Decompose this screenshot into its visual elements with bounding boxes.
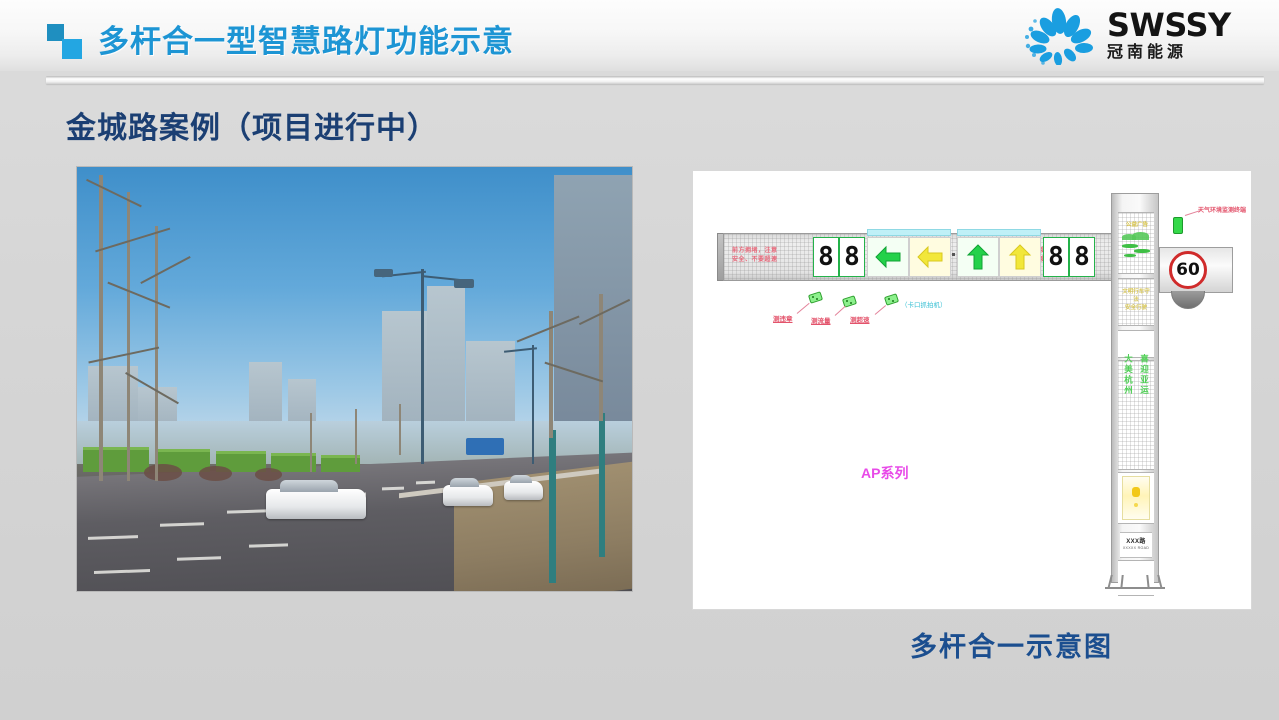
- photo-sapling: [310, 413, 312, 472]
- gantry-arrow-up-green: [957, 237, 999, 277]
- jincheng-road-street-photo: [76, 166, 633, 592]
- digit-value: 8: [1074, 244, 1090, 270]
- photo-tree-trunk: [127, 192, 130, 480]
- logo-subtitle: 冠南能源: [1107, 43, 1265, 63]
- annotation-label-3: 测超速: [850, 314, 870, 324]
- photo-building: [554, 175, 632, 438]
- two-squares-icon: [47, 24, 89, 60]
- photo-lamp-head: [374, 269, 393, 277]
- photo-lamp-head: [454, 279, 473, 287]
- photo-lane-dash: [416, 480, 435, 484]
- diagram-caption: 多杆合一示意图: [910, 625, 1113, 664]
- header-divider: [46, 76, 1264, 84]
- pole-ad-label: 公益广告: [1122, 220, 1152, 228]
- photo-tree-trunk: [155, 226, 158, 480]
- logo-text-block: SWSSY 冠南能源: [1107, 8, 1265, 63]
- gantry-digit-right-2: 8: [1069, 237, 1095, 277]
- lane-info-strip-left: [867, 229, 951, 236]
- multi-pole-schematic-diagram: 前方拥堵，注意 安全、不要超速 温度：25℃ PM2.5 湿度：60% P10 …: [692, 170, 1252, 610]
- annotation-label-2: 测流量: [811, 315, 831, 325]
- arrow-left-icon: [873, 243, 903, 271]
- digit-value: 8: [844, 244, 860, 270]
- photo-tree-trunk-painted: [549, 430, 556, 583]
- pole-slogan-right: 喜迎亚运: [1139, 354, 1150, 464]
- swssy-droplet-flower-logo-icon: [1015, 7, 1103, 65]
- logo-name: SWSSY: [1107, 8, 1265, 42]
- smart-pole: 公益广告 文明行车守法 安全行驶 大美杭州 喜迎亚运 XXX路 XXXXX RO…: [1111, 193, 1159, 583]
- gantry-arrow-left-yellow: [909, 237, 951, 277]
- photo-sapling: [399, 404, 401, 455]
- pole-base: [1105, 575, 1165, 589]
- page-title: 多杆合一型智慧路灯功能示意: [98, 16, 514, 61]
- weather-terminal-label: 天气环境监测终端: [1198, 205, 1246, 214]
- lane-info-strip-right: [957, 229, 1041, 236]
- arrow-up-icon: [1006, 242, 1034, 272]
- camera-icon: [809, 293, 822, 302]
- photo-shrub: [199, 466, 232, 481]
- speed-limit-sign: 60: [1169, 251, 1207, 289]
- weather-sensor-icon: [1173, 217, 1183, 234]
- gantry-center-tick: [952, 253, 955, 256]
- gantry-digit-right-1: 8: [1043, 237, 1069, 277]
- photo-shrub: [255, 468, 283, 481]
- annotation-leader-line: [875, 305, 886, 315]
- road-name-cn: XXX路: [1120, 536, 1152, 545]
- photo-sapling: [355, 409, 357, 464]
- gantry-arrow-left-green: [867, 237, 909, 277]
- photo-tree-trunk-painted: [599, 413, 605, 557]
- digit-value: 8: [818, 244, 834, 270]
- photo-truck: [83, 447, 150, 472]
- pole-road-name-plate: XXX路 XXXXX ROAD: [1120, 532, 1152, 558]
- pole-safety-text: 文明行车守法 安全行驶: [1120, 288, 1152, 312]
- annotation-leader-line: [835, 306, 846, 316]
- photo-building: [427, 286, 466, 439]
- gantry-digit-left-2: 8: [839, 237, 865, 277]
- road-name-en: XXXXX ROAD: [1120, 546, 1152, 550]
- green-hills-water-icon: [1120, 230, 1152, 264]
- photo-street-lamp-pole: [532, 345, 534, 464]
- photo-tree-trunk: [99, 175, 103, 480]
- photo-road-sign: [466, 438, 505, 455]
- digit-value: 8: [1048, 244, 1064, 270]
- arrow-left-icon: [915, 243, 945, 271]
- gantry-digit-left-1: 8: [813, 237, 839, 277]
- photo-tree-trunk: [549, 311, 553, 438]
- photo-shrub: [144, 464, 183, 481]
- arrow-up-icon: [964, 242, 992, 272]
- square-light-icon: [62, 39, 82, 59]
- annotation-leader-line: [797, 303, 810, 314]
- gantry-message-text: 前方拥堵，注意 安全、不要超速: [729, 243, 805, 271]
- gantry-arrow-up-yellow: [999, 237, 1041, 277]
- company-logo: SWSSY 冠南能源: [1015, 5, 1265, 67]
- ap-series-label: AP系列: [861, 463, 908, 483]
- camera-icon: [885, 295, 898, 304]
- pole-slogan-block: 大美杭州 喜迎亚运: [1120, 354, 1152, 464]
- annotation-label-4: （卡口抓拍机）: [901, 299, 947, 309]
- page-header: 多杆合一型智慧路灯功能示意 SWS: [0, 0, 1279, 71]
- photo-car: [504, 481, 543, 500]
- photo-car: [266, 489, 366, 519]
- photo-building: [382, 311, 426, 438]
- photo-car: [443, 485, 493, 506]
- dome-camera-icon: [1171, 291, 1205, 309]
- section-subtitle: 金城路案例（项目进行中）: [66, 103, 438, 147]
- pole-slogan-left: 大美杭州: [1123, 354, 1134, 464]
- photo-street-lamp-pole: [421, 269, 424, 464]
- annotation-label-1: 测违章: [773, 313, 793, 323]
- street-light-icon: [1122, 476, 1150, 520]
